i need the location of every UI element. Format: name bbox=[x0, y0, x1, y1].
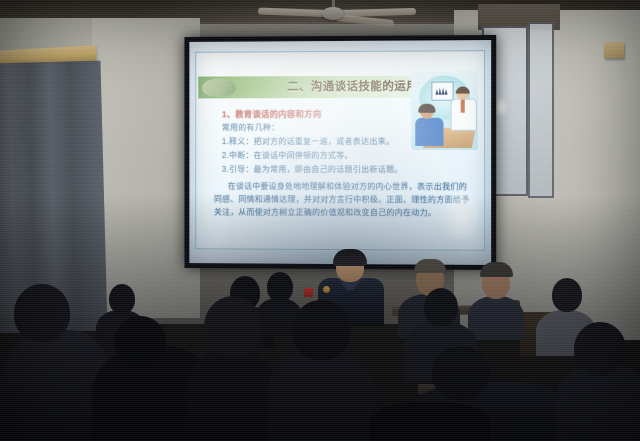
counseling-scene-illustration bbox=[411, 71, 478, 150]
slide-paragraph: 在谈话中要设身处地地理解和体验对方的内心世界，表示出我们的同感、同情和通情达理，… bbox=[214, 180, 470, 220]
wall-plaque bbox=[604, 42, 624, 58]
illustration-person-left bbox=[415, 106, 443, 146]
ceiling-fan-hub bbox=[322, 7, 344, 20]
screen-surface: 二、沟通谈话技能的运用 bbox=[189, 40, 491, 265]
audience-member bbox=[186, 296, 278, 441]
uniform-badge-icon bbox=[323, 286, 330, 293]
lecture-room-photo: 二、沟通谈话技能的运用 bbox=[0, 0, 640, 441]
audience-member bbox=[268, 300, 374, 441]
audience-member bbox=[370, 386, 490, 441]
leaf-decoration-icon bbox=[202, 78, 236, 96]
window bbox=[528, 22, 554, 198]
presentation-slide: 二、沟通谈话技能的运用 bbox=[195, 50, 485, 251]
slide-line: 3.引导：最为常用，即由自己的话题引出新话题。 bbox=[222, 164, 403, 175]
projection-screen: 二、沟通谈话技能的运用 bbox=[184, 35, 496, 270]
audience-member bbox=[556, 322, 640, 441]
slide-heading: 1、教育谈话的内容和方向 bbox=[222, 108, 322, 120]
slide-line: 常用的有几种： bbox=[222, 122, 279, 133]
slide-line: 1.释义：把对方的话重复一遍，或者表达出来。 bbox=[222, 136, 395, 147]
red-marker bbox=[304, 288, 313, 297]
illustration-person-right bbox=[450, 88, 476, 140]
slide-line: 2.中断：在谈话中间停顿的方式等。 bbox=[222, 150, 353, 161]
